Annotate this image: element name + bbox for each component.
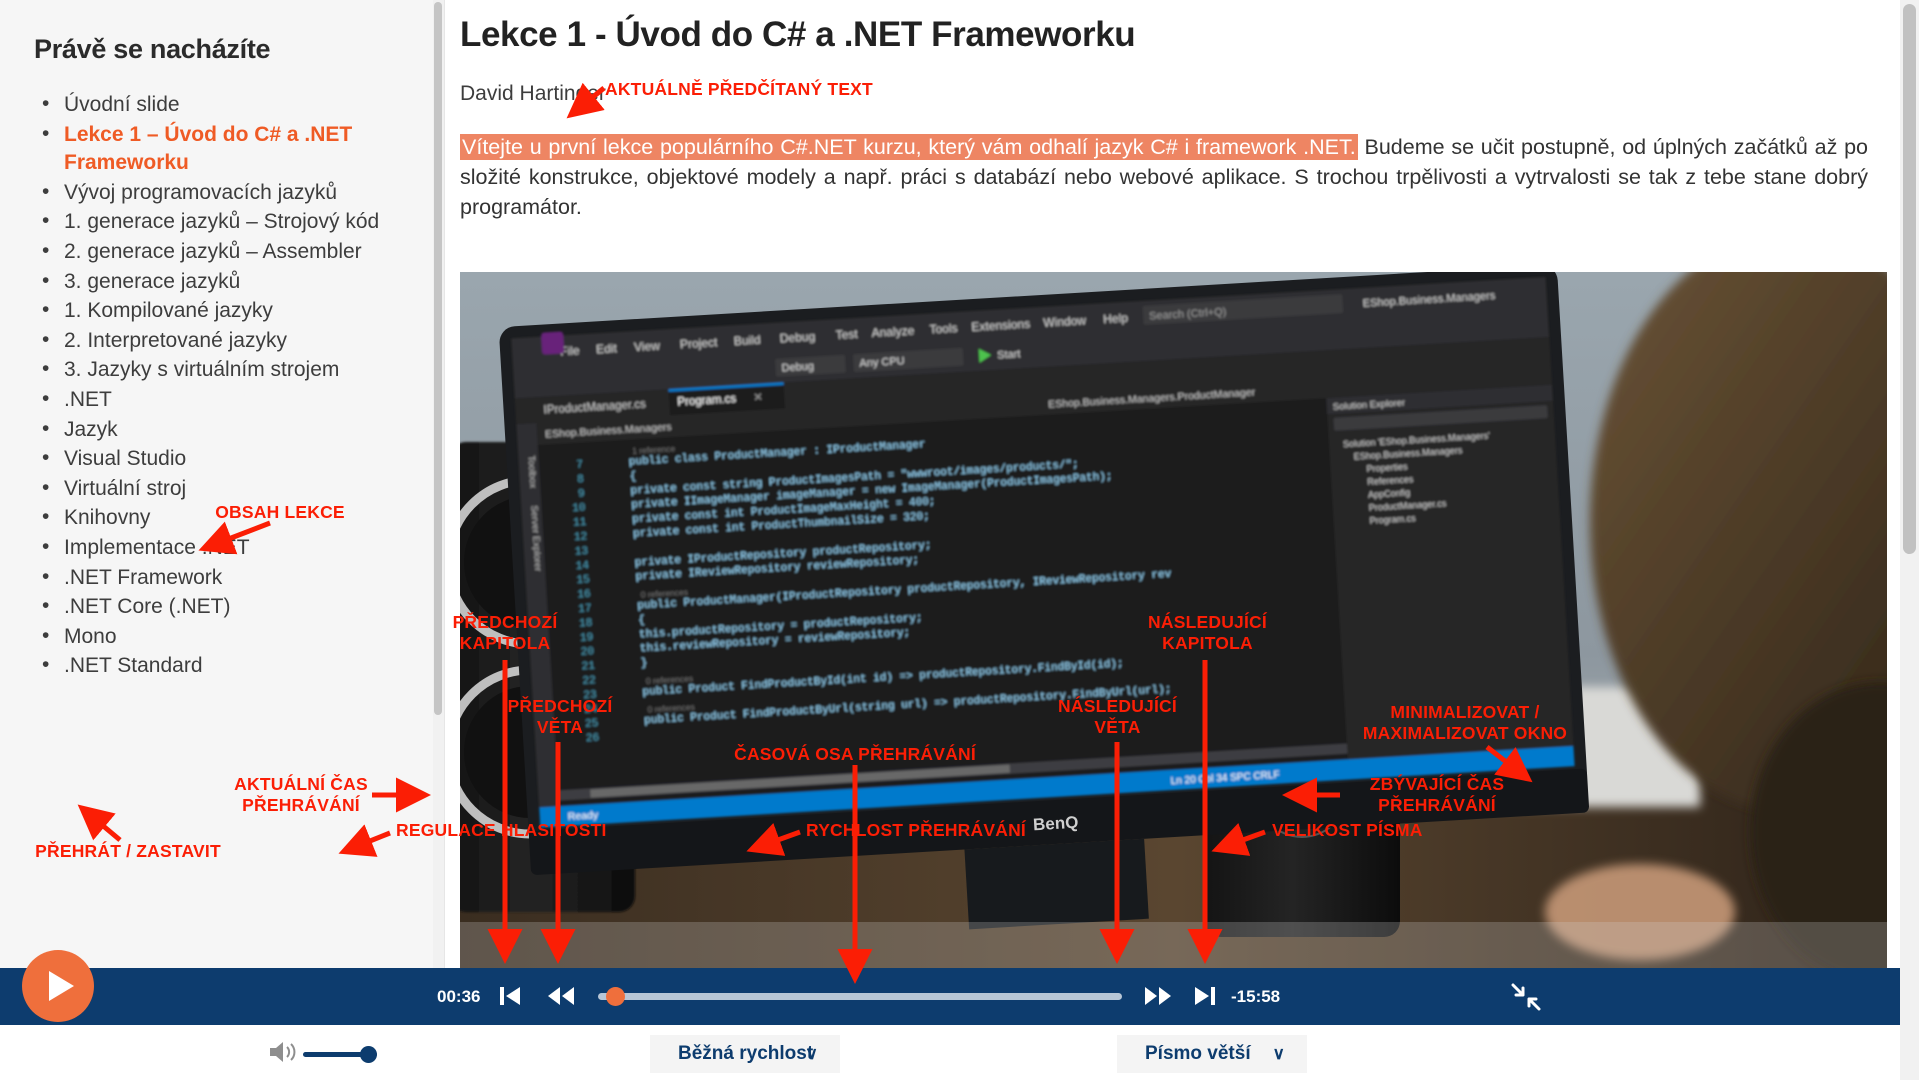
font-size-value: Písmo větší: [1145, 1043, 1251, 1065]
annotation-next-chapter: NÁSLEDUJÍCÍ KAPITOLA: [1145, 612, 1270, 654]
svg-text:{: {: [629, 471, 636, 483]
volume-knob[interactable]: [360, 1046, 377, 1063]
toc-item[interactable]: Mono: [34, 623, 408, 652]
annotation-timeline: ČASOVÁ OSA PŘEHRÁVÁNÍ: [700, 744, 1010, 765]
svg-text:}: }: [641, 658, 648, 670]
player-bar: 00:36: [0, 968, 1900, 1025]
page-title: Lekce 1 - Úvod do C# a .NET Frameworku: [460, 14, 1868, 56]
toc-item[interactable]: .NET Standard: [34, 652, 408, 681]
toc-item[interactable]: 1. Kompilované jazyky: [34, 297, 408, 326]
toc-item[interactable]: 3. generace jazyků: [34, 268, 408, 297]
table-of-contents: Úvodní slideLekce 1 – Úvod do C# a .NET …: [34, 91, 408, 681]
lesson-paragraph: Vítejte u první lekce populárního C#.NET…: [460, 132, 1868, 222]
svg-text:16: 16: [577, 589, 591, 602]
svg-text:Tools: Tools: [929, 321, 958, 337]
svg-text:7: 7: [576, 459, 583, 471]
playback-speed-select[interactable]: Běžná rychlost ∨: [650, 1035, 840, 1073]
toc-item[interactable]: 2. Interpretované jazyky: [34, 327, 408, 356]
annotation-current-text: AKTUÁLNĚ PŘEDČÍTANÝ TEXT: [605, 79, 875, 100]
annotation-current-time: AKTUÁLNÍ ČAS PŘEHRÁVÁNÍ: [215, 774, 387, 816]
svg-text:22: 22: [582, 675, 596, 688]
svg-text:Project: Project: [680, 335, 719, 351]
svg-text:17: 17: [578, 603, 592, 616]
svg-text:21: 21: [581, 661, 595, 674]
annotation-volume: REGULACE HLASITOSTI: [396, 820, 611, 841]
previous-sentence-button[interactable]: [546, 982, 576, 1010]
next-chapter-button[interactable]: [1192, 982, 1218, 1010]
next-sentence-button[interactable]: [1143, 982, 1173, 1010]
playback-progress-bar[interactable]: [598, 993, 1122, 1000]
page-scrollbar-thumb[interactable]: [1903, 4, 1916, 554]
previous-chapter-button[interactable]: [497, 982, 523, 1010]
fast-forward-icon: [1143, 982, 1173, 1010]
toc-item[interactable]: Lekce 1 – Úvod do C# a .NET Frameworku: [34, 121, 408, 178]
svg-text:Window: Window: [1043, 313, 1087, 330]
svg-text:9: 9: [578, 488, 585, 500]
toc-item[interactable]: .NET: [34, 386, 408, 415]
font-size-select[interactable]: Písmo větší ∨: [1117, 1035, 1307, 1073]
annotation-playback-speed: RYCHLOST PŘEHRÁVÁNÍ: [806, 820, 1038, 841]
svg-text:Analyze: Analyze: [871, 324, 915, 341]
playback-speed-value: Běžná rychlost: [678, 1043, 813, 1065]
annotation-remaining-time: ZBÝVAJÍCÍ ČAS PŘEHRÁVÁNÍ: [1348, 774, 1526, 816]
minimize-window-icon: [1510, 982, 1542, 1012]
minimize-maximize-button[interactable]: [1510, 982, 1542, 1017]
annotation-previous-sentence: PŘEDCHOZÍ VĚTA: [500, 696, 620, 738]
svg-text:11: 11: [573, 517, 587, 530]
annotation-previous-chapter: PŘEDCHOZÍ KAPITOLA: [445, 612, 565, 654]
svg-text:Debug: Debug: [781, 361, 814, 375]
rewind-icon: [546, 982, 576, 1010]
svg-text:Build: Build: [733, 333, 760, 349]
svg-text:Edit: Edit: [596, 341, 618, 356]
annotation-minimize-maximize: MINIMALIZOVAT / MAXIMALIZOVAT OKNO: [1340, 702, 1590, 744]
svg-text:{: {: [638, 614, 645, 626]
play-icon: [49, 971, 74, 1001]
chevron-down-icon: ∨: [806, 1044, 818, 1064]
remaining-time-label: -15:58: [1231, 987, 1280, 1007]
toc-item[interactable]: Jazyk: [34, 416, 408, 445]
svg-text:19: 19: [580, 632, 594, 645]
toc-item[interactable]: .NET Framework: [34, 564, 408, 593]
current-time-label: 00:36: [437, 987, 480, 1007]
svg-text:Test: Test: [835, 327, 858, 342]
chevron-down-icon: ∨: [1273, 1044, 1285, 1064]
toc-item[interactable]: Visual Studio: [34, 445, 408, 474]
annotation-lesson-contents: OBSAH LEKCE: [185, 502, 375, 523]
toc-item[interactable]: .NET Core (.NET): [34, 593, 408, 622]
annotation-play-stop: PŘEHRÁT / ZASTAVIT: [18, 841, 238, 862]
toc-item[interactable]: Virtuální stroj: [34, 475, 408, 504]
toc-item[interactable]: 1. generace jazyků – Strojový kód: [34, 208, 408, 237]
svg-text:BenQ: BenQ: [1033, 813, 1079, 835]
annotation-font-size: VELIKOST PÍSMA: [1272, 820, 1462, 841]
toc-item[interactable]: 2. generace jazyků – Assembler: [34, 238, 408, 267]
sidebar-heading: Právě se nacházíte: [34, 34, 408, 65]
svg-text:Start: Start: [997, 348, 1021, 361]
toc-item[interactable]: Úvodní slide: [34, 91, 408, 120]
svg-text:10: 10: [572, 503, 586, 516]
svg-text:18: 18: [579, 618, 593, 631]
skip-next-icon: [1192, 982, 1218, 1010]
svg-text:20: 20: [581, 646, 595, 659]
svg-text:View: View: [634, 339, 661, 355]
toc-item[interactable]: Vývoj programovacích jazyků: [34, 179, 408, 208]
volume-icon: [268, 1039, 298, 1065]
lesson-outline-sidebar: Právě se nacházíte Úvodní slideLekce 1 –…: [0, 0, 434, 968]
volume-button[interactable]: [268, 1039, 298, 1070]
toc-item[interactable]: 3. Jazyky s virtuálním strojem: [34, 356, 408, 385]
svg-text:12: 12: [574, 531, 588, 544]
currently-read-sentence[interactable]: Vítejte u první lekce populárního C#.NET…: [460, 134, 1358, 160]
annotation-next-sentence: NÁSLEDUJÍCÍ VĚTA: [1055, 696, 1180, 738]
svg-text:✕: ✕: [753, 392, 763, 405]
svg-text:Debug: Debug: [779, 329, 815, 345]
toc-item[interactable]: Implementace .NET: [34, 534, 408, 563]
svg-text:Toolbox: Toolbox: [525, 455, 538, 489]
sidebar-scrollbar-thumb[interactable]: [434, 2, 442, 715]
skip-previous-icon: [497, 982, 523, 1010]
bottom-controls: Běžná rychlost ∨ Písmo větší ∨: [0, 1025, 1900, 1080]
svg-text:8: 8: [577, 474, 584, 486]
play-pause-button[interactable]: [22, 950, 94, 1022]
progress-knob[interactable]: [606, 987, 625, 1006]
svg-text:15: 15: [576, 574, 590, 587]
svg-text:14: 14: [575, 560, 589, 573]
svg-text:13: 13: [575, 546, 589, 559]
svg-text:Help: Help: [1103, 311, 1129, 326]
